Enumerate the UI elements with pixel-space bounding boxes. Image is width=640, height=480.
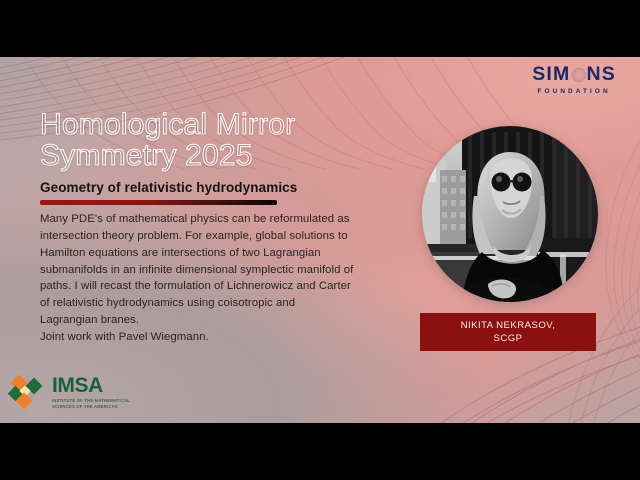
simons-wordmark-left: SIM xyxy=(532,65,570,85)
letterbox-bar-bottom xyxy=(0,423,640,480)
letterbox-bar-top xyxy=(0,0,640,57)
abstract-text: Many PDE's of mathematical physics can b… xyxy=(40,211,418,345)
imsa-wordmark: IMSA INSTITUTE OF THE MATHEMATICAL SCIEN… xyxy=(52,375,130,409)
simons-subtitle: FOUNDATION xyxy=(532,88,616,95)
speaker-affiliation: SCGP xyxy=(494,333,523,344)
presentation-slide: Homological Mirror Symmetry 2025 Geometr… xyxy=(0,57,640,423)
talk-subtitle: Geometry of relativistic hydrodynamics xyxy=(40,180,425,195)
simons-circle-icon xyxy=(572,68,586,82)
speaker-name-plate: NIKITA NEKRASOV, SCGP xyxy=(420,313,596,351)
imsa-tagline: INSTITUTE OF THE MATHEMATICAL SCIENCES O… xyxy=(52,398,130,409)
page-title: Homological Mirror Symmetry 2025 xyxy=(40,109,425,171)
simons-wordmark: SIM NS xyxy=(532,65,616,85)
speaker-name: NIKITA NEKRASOV, xyxy=(461,320,556,331)
imsa-name: IMSA xyxy=(52,375,130,396)
speaker-portrait-image xyxy=(422,126,598,302)
title-underline-rule xyxy=(40,200,277,205)
imsa-diamond-icon xyxy=(10,374,46,410)
video-frame: Homological Mirror Symmetry 2025 Geometr… xyxy=(0,0,640,480)
imsa-logo: IMSA INSTITUTE OF THE MATHEMATICAL SCIEN… xyxy=(10,374,130,410)
slide-text-column: Homological Mirror Symmetry 2025 Geometr… xyxy=(40,109,425,346)
simons-foundation-logo: SIM NS FOUNDATION xyxy=(532,65,616,95)
speaker-portrait xyxy=(422,126,598,302)
simons-wordmark-right: NS xyxy=(587,65,617,85)
